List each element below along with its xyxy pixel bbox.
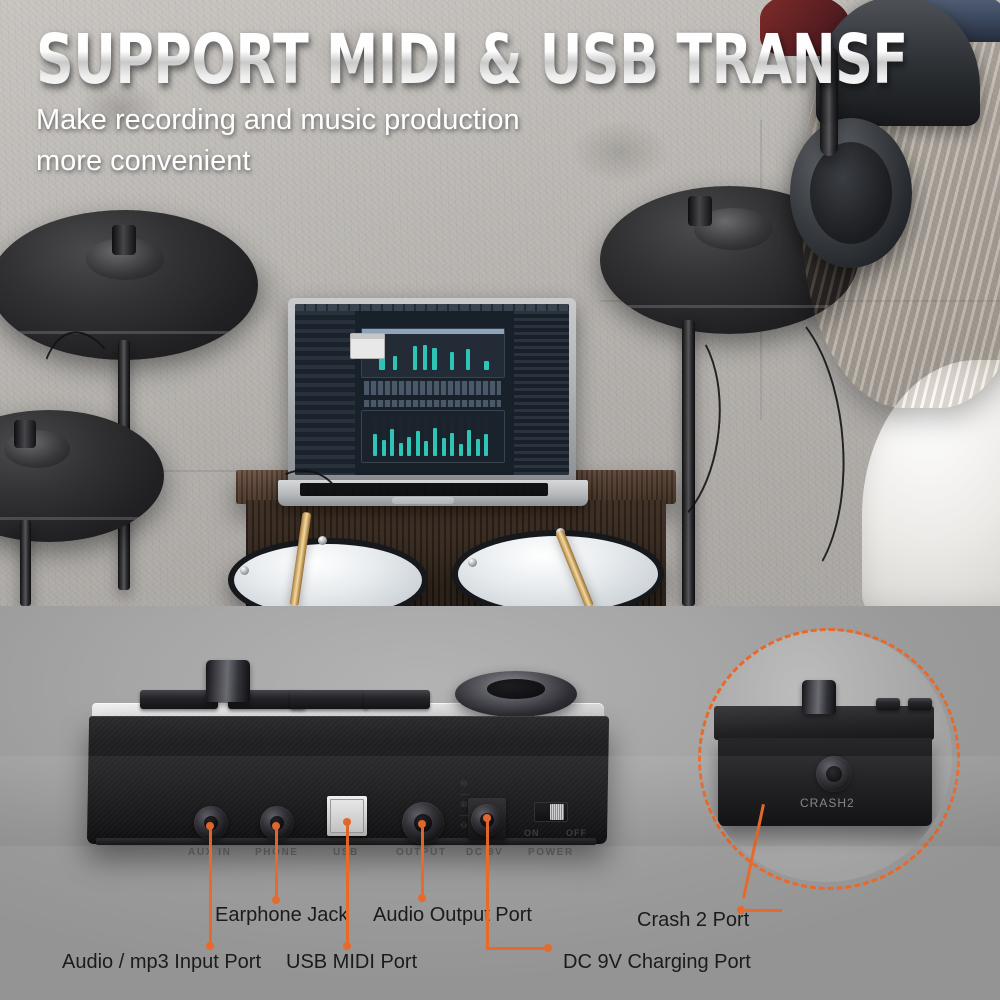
leader-dc9v-horizontal	[486, 947, 548, 950]
leader-dot-output-end	[418, 894, 426, 902]
callout-crash2: Crash 2 Port	[637, 909, 749, 932]
drum-lug	[240, 566, 249, 575]
lifestyle-photo: SUPPORT MIDI & USB TRANSFER Make recordi…	[0, 0, 1000, 606]
module-volume-dial[interactable]	[455, 671, 577, 717]
crash2-jack[interactable]	[816, 756, 852, 792]
module-button-3[interactable]	[290, 690, 368, 709]
cymbal-clamp	[112, 225, 136, 255]
silk-dc9v: DC 9V	[466, 847, 503, 858]
cymbal-stand	[20, 520, 31, 606]
leader-dot-dc9v-top	[483, 814, 491, 822]
drum-lug	[318, 536, 327, 545]
leader-dot-usb-end	[343, 942, 351, 950]
laptop-screen	[288, 298, 576, 484]
leader-dot-output-top	[418, 820, 426, 828]
callout-dc9v: DC 9V Charging Port	[563, 951, 751, 974]
inset-zoom-view: CRASH2	[700, 630, 952, 882]
leader-dot-earphone-top	[272, 822, 280, 830]
leader-dot-aux-in-top	[206, 822, 214, 830]
drum-lug	[468, 558, 477, 567]
callout-earphone: Earphone Jack	[215, 904, 348, 927]
inset-crash2-label: CRASH2	[800, 796, 855, 810]
laptop-trackpad	[392, 497, 454, 504]
module-small-knob[interactable]	[206, 660, 250, 702]
leader-dot-dc9v-end	[544, 944, 552, 952]
subtitle: Make recording and music production more…	[36, 100, 736, 182]
inset-knob	[802, 680, 836, 714]
subtitle-line-2: more convenient	[36, 141, 736, 182]
leader-dot-usb-top	[343, 818, 351, 826]
leader-aux-in	[209, 828, 212, 946]
leader-dot-aux-in-end	[206, 942, 214, 950]
inset-button-1	[876, 698, 900, 710]
product-detail-panel: AUX IN PHONE USB OUTPUT DC 9V POWER ON O…	[0, 606, 1000, 1000]
leader-output	[421, 826, 424, 898]
callout-usb-midi: USB MIDI Port	[286, 951, 417, 974]
product-infographic: SUPPORT MIDI & USB TRANSFER Make recordi…	[0, 0, 1000, 1000]
leader-dot-earphone-end	[272, 896, 280, 904]
daw-application	[295, 304, 569, 475]
cymbal-clamp	[688, 196, 712, 226]
leader-dc9v-vertical	[486, 820, 489, 950]
page-title: SUPPORT MIDI & USB TRANSFER	[36, 26, 907, 96]
inset-button-2	[908, 698, 932, 710]
cymbal-clamp	[14, 420, 36, 448]
callout-aux-in: Audio / mp3 Input Port	[62, 951, 261, 974]
headphone-earcup	[790, 118, 912, 268]
module-button-4[interactable]	[364, 690, 430, 709]
silk-switch-off: OFF	[566, 828, 587, 838]
leader-usb	[346, 824, 349, 946]
silk-switch-on: ON	[524, 828, 540, 838]
dc-polarity-icon: ⊖—⊕—⊖	[460, 778, 470, 831]
leader-earphone	[275, 828, 278, 900]
silk-power: POWER	[528, 847, 574, 858]
subtitle-line-1: Make recording and music production	[36, 100, 736, 141]
power-switch[interactable]	[534, 802, 568, 822]
callout-audio-output: Audio Output Port	[373, 904, 532, 927]
